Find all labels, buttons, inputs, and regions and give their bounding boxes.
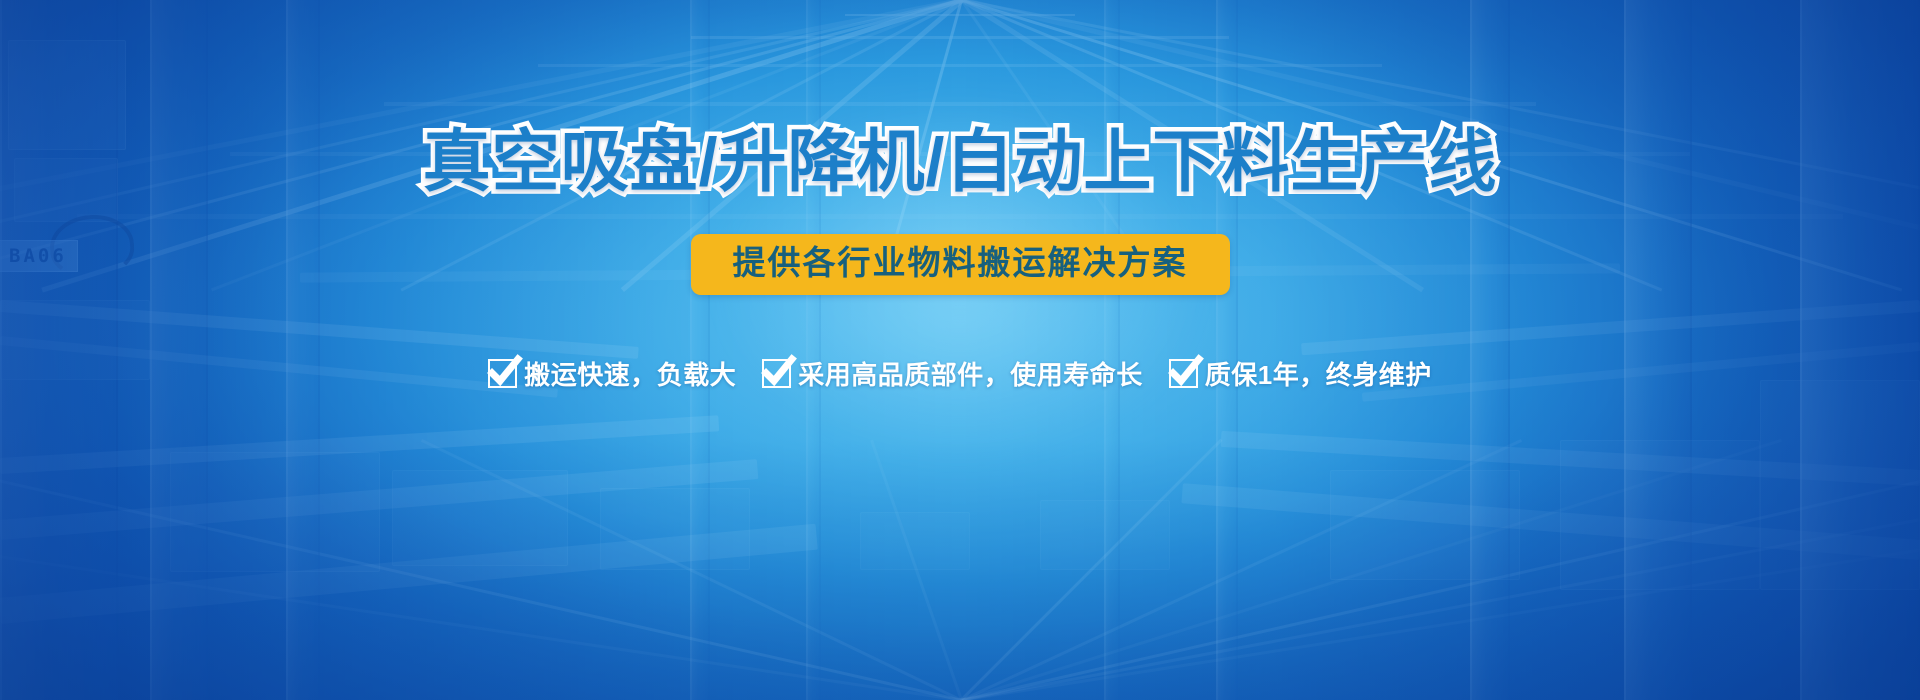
subtitle-text: 提供各行业物料搬运解决方案: [733, 244, 1188, 281]
banner-title: 真空吸盘/升降机/自动上下料生产线: [423, 128, 1498, 196]
subtitle-pill: 提供各行业物料搬运解决方案: [691, 234, 1230, 295]
feature-list: 搬运快速，负载大 采用高品质部件，使用寿命长 质保1年，终身维护: [488, 355, 1432, 392]
feature-item: 质保1年，终身维护: [1169, 355, 1432, 392]
hero-banner: BA06 真空吸盘/升降机/自动上下料生产线 提供各行业物料搬运解决方案 搬运快…: [0, 0, 1920, 700]
checkbox-check-icon: [1169, 359, 1198, 388]
feature-item: 搬运快速，负载大: [488, 355, 736, 392]
feature-label: 采用高品质部件，使用寿命长: [798, 355, 1143, 392]
feature-label: 质保1年，终身维护: [1205, 355, 1432, 392]
feature-item: 采用高品质部件，使用寿命长: [762, 355, 1143, 392]
banner-content: 真空吸盘/升降机/自动上下料生产线 提供各行业物料搬运解决方案 搬运快速，负载大: [0, 0, 1920, 700]
checkbox-check-icon: [762, 359, 791, 388]
checkbox-check-icon: [488, 359, 517, 388]
feature-label: 搬运快速，负载大: [524, 355, 736, 392]
